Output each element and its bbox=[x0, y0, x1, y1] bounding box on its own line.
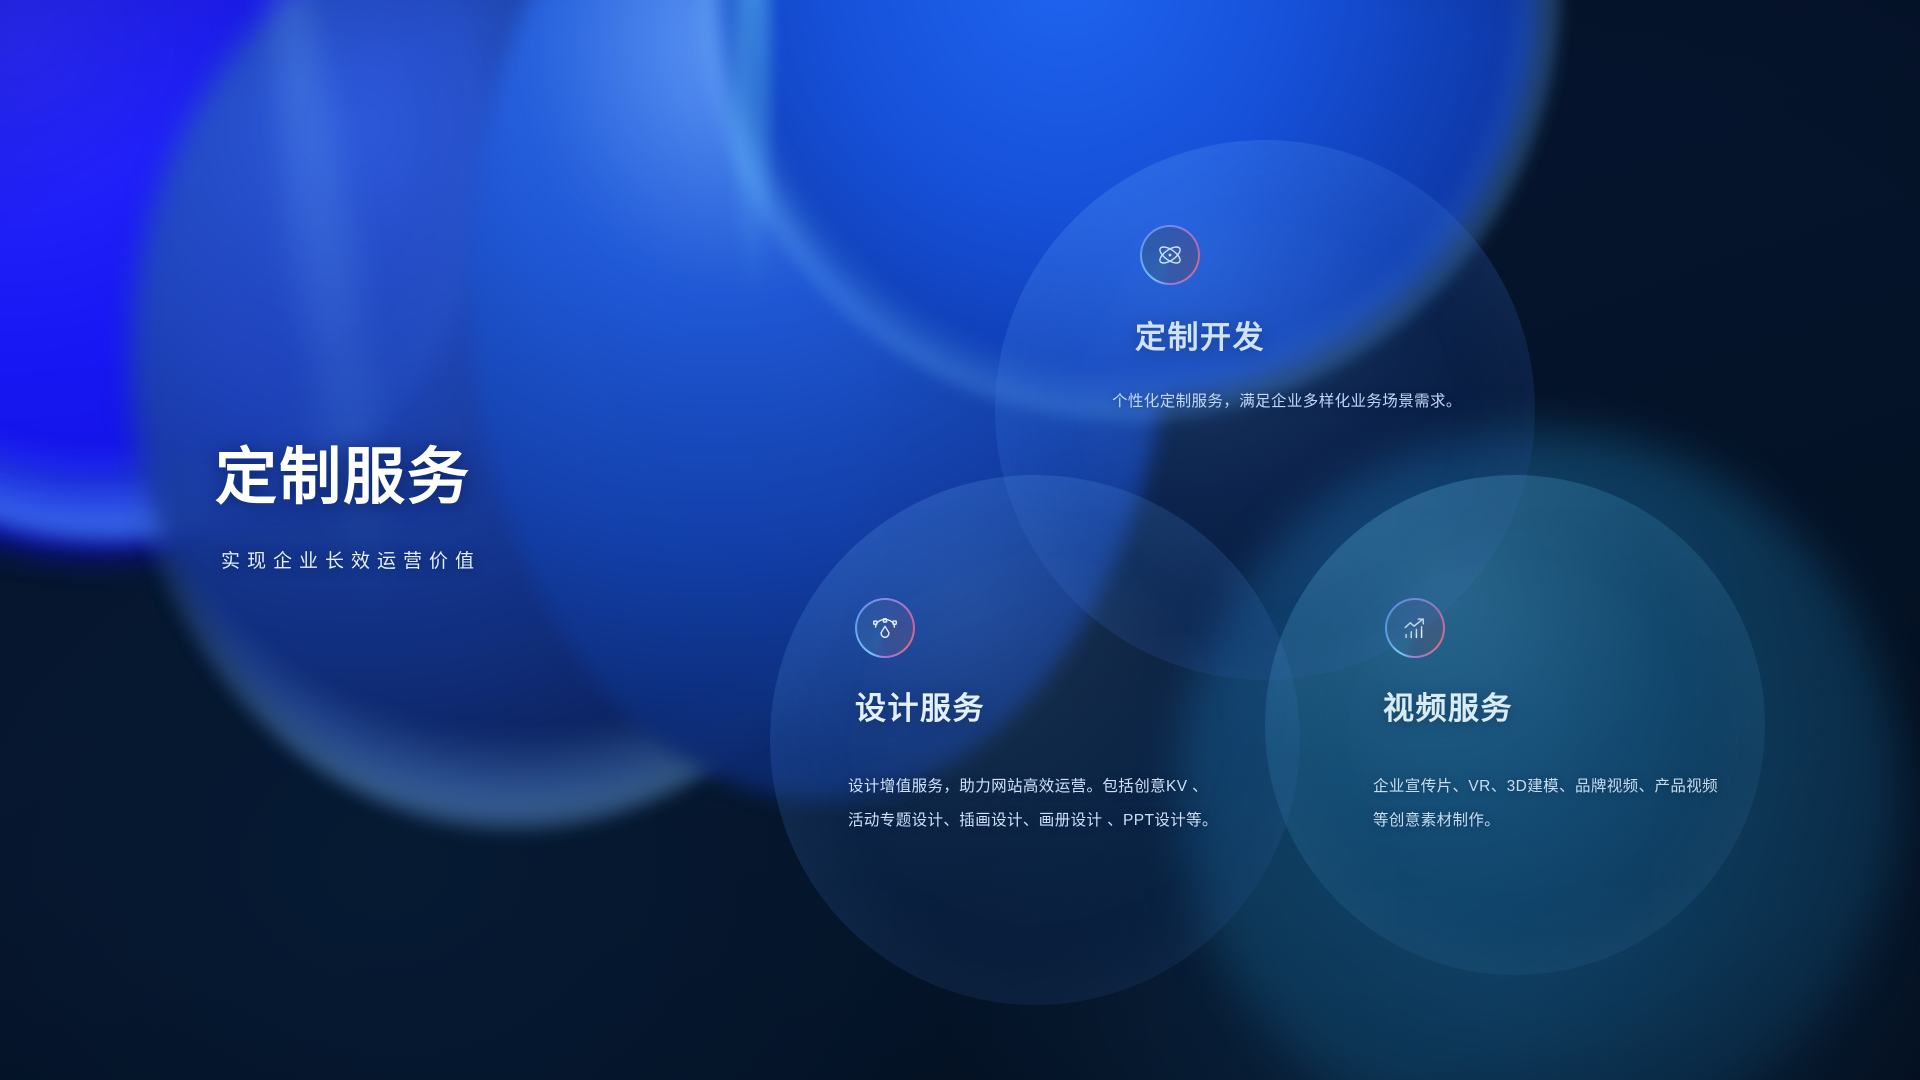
service-circle-design-service[interactable] bbox=[770, 475, 1300, 1005]
hero-text-block: 定制服务 实现企业长效运营价值 bbox=[215, 444, 481, 573]
page-title: 定制服务 bbox=[215, 444, 481, 512]
page-subtitle: 实现企业长效运营价值 bbox=[221, 546, 481, 573]
background-sphere-electric-core bbox=[0, 0, 410, 470]
hero-banner: 定制服务 实现企业长效运营价值 定制开发 个性化定制服务，满足企业多样化业务场景… bbox=[0, 0, 1920, 1080]
background-light-streak-top bbox=[735, 0, 771, 300]
service-circle-video-service[interactable] bbox=[1265, 475, 1765, 975]
